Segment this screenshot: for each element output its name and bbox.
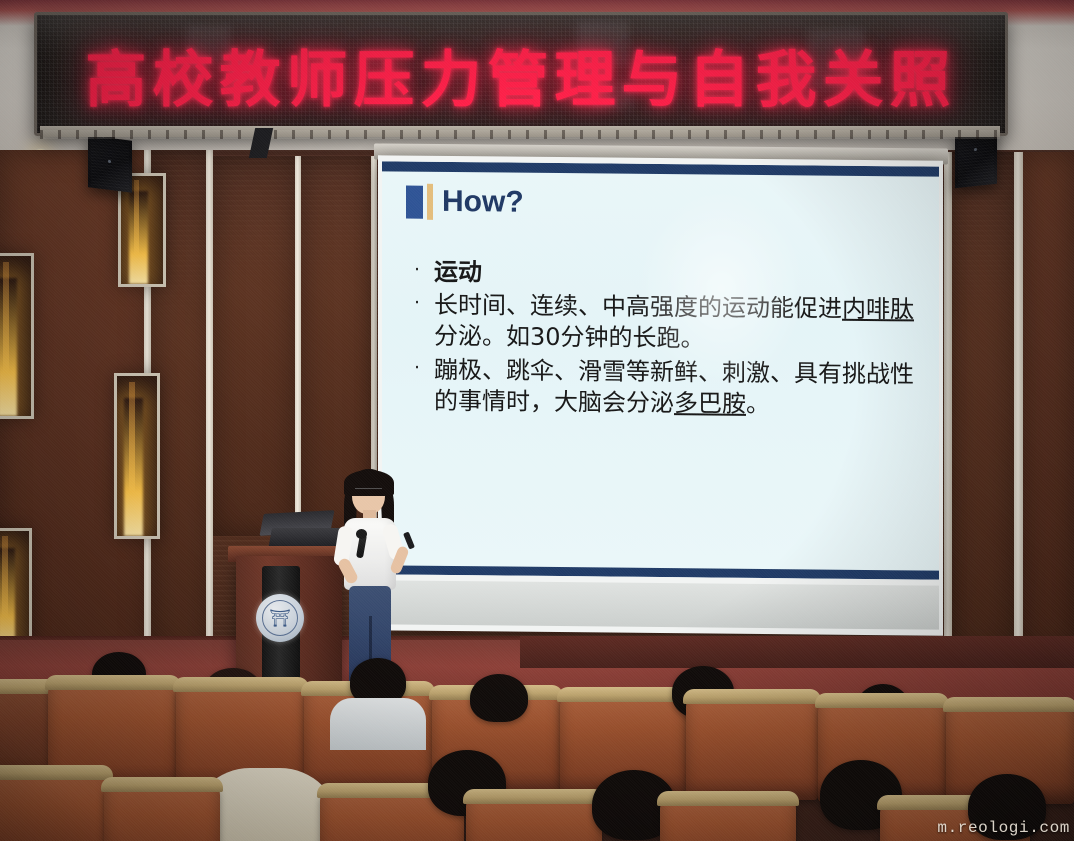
seat-trim <box>683 689 821 704</box>
slide-bullet-3: · 蹦极、跳伞、滑雪等新鲜、刺激、具有挑战性的事情时，大脑会分泌多巴胺。 <box>414 354 921 421</box>
speaker-grill <box>91 139 129 190</box>
bullet-text: 运动 <box>434 257 921 293</box>
seat-trim <box>173 677 309 692</box>
bullet-text-underlined: 内啡肽 <box>842 295 914 324</box>
bullet-marker: · <box>414 290 434 318</box>
slide-title: How? <box>442 187 524 218</box>
bullet-text: 蹦极、跳伞、滑雪等新鲜、刺激、具有挑战性的事情时，大脑会分泌多巴胺。 <box>434 354 921 421</box>
audience-seat <box>686 694 818 800</box>
slide-title-row: How? <box>406 184 524 221</box>
emblem-glyph-icon: ⛩ <box>269 610 291 627</box>
led-banner-rail-teeth <box>40 130 1000 139</box>
bullet-text-after: 分泌。如30分钟的长跑。 <box>434 322 705 353</box>
led-banner-text: 高校教师压力管理与自我关照 <box>37 30 1005 119</box>
slide-accent-bar-blue <box>406 185 423 218</box>
wall-alcove-light <box>114 373 160 539</box>
slide-top-band <box>382 161 939 176</box>
seat-trim <box>557 687 689 702</box>
audience-seat <box>0 770 110 841</box>
lecture-hall-photo: 高校教师压力管理与自我关照 How? · 运动 · 长时间、连续、中高强度的运动… <box>0 0 1074 841</box>
bullet-text-after: 。 <box>746 390 770 418</box>
ceiling-speaker-right <box>955 132 997 188</box>
slide-accent-bar-gold <box>427 184 433 220</box>
audience-head <box>470 674 528 722</box>
alcove-glow <box>0 548 15 649</box>
bullet-marker: · <box>414 257 434 285</box>
slide-bottom-band <box>382 565 939 579</box>
seat-trim <box>45 675 181 690</box>
audience-seat <box>466 794 602 841</box>
podium-emblem: ⛩ <box>256 594 304 642</box>
wall-panel-right-2 <box>1023 152 1074 652</box>
bullet-text: 长时间、连续、中高强度的运动能促进内啡肽分泌。如30分钟的长跑。 <box>434 290 921 357</box>
wall-panel-center-1 <box>213 156 295 536</box>
slide-bullet-1: · 运动 <box>414 257 921 293</box>
audience-seat <box>660 796 796 841</box>
seat-trim <box>815 693 949 708</box>
led-banner: 高校教师压力管理与自我关照 <box>34 12 1008 136</box>
microphone-head <box>356 529 367 539</box>
slide-bullet-list: · 运动 · 长时间、连续、中高强度的运动能促进内啡肽分泌。如30分钟的长跑。 … <box>414 257 921 424</box>
seat-trim <box>101 777 223 792</box>
wall-divider <box>206 150 213 670</box>
presentation-slide: How? · 运动 · 长时间、连续、中高强度的运动能促进内啡肽分泌。如30分钟… <box>382 161 939 579</box>
seat-trim <box>0 765 113 780</box>
seat-trim <box>463 789 605 804</box>
presenter-glasses <box>355 488 382 496</box>
emblem-ring: ⛩ <box>262 600 298 636</box>
audience-seat <box>104 782 220 841</box>
bullet-text-underlined: 多巴胺 <box>674 389 746 418</box>
slide-bullet-2: · 长时间、连续、中高强度的运动能促进内啡肽分泌。如30分钟的长跑。 <box>414 290 921 357</box>
wall-divider <box>944 152 952 652</box>
wall-alcove-light <box>0 253 34 419</box>
audience-seating <box>0 636 1074 841</box>
seat-trim <box>657 791 799 806</box>
bullet-text-before: 长时间、连续、中高强度的运动能促进 <box>434 291 842 323</box>
ceiling-speaker-left <box>88 135 132 192</box>
projection-screen: How? · 运动 · 长时间、连续、中高强度的运动能促进内啡肽分泌。如30分钟… <box>378 155 943 635</box>
alcove-glow <box>124 398 142 536</box>
wall-panel-right-1 <box>952 152 1014 652</box>
seat-trim <box>943 697 1074 712</box>
speaker-led-icon <box>108 160 111 163</box>
speaker-grill <box>958 135 994 185</box>
screen-blank-area <box>382 580 939 629</box>
watermark: m.reologi.com <box>937 819 1070 837</box>
wall-alcove-light <box>0 528 32 652</box>
bullet-marker: · <box>414 354 434 382</box>
audience-shoulders <box>330 698 426 750</box>
alcove-glow <box>129 191 148 284</box>
alcove-glow <box>0 278 17 416</box>
wall-divider <box>1014 152 1023 652</box>
